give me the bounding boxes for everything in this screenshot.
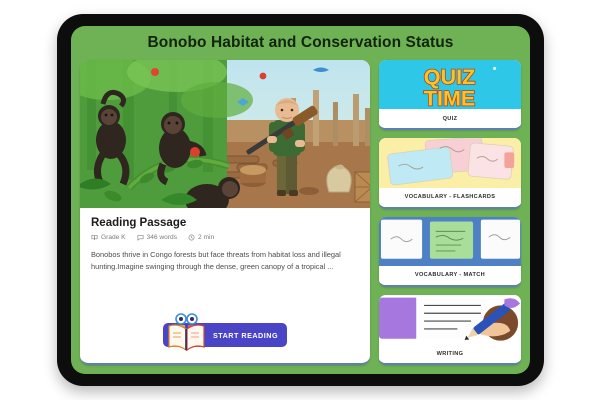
tablet-screen: Bonobo Habitat and Conservation Status [71, 26, 530, 374]
page-title: Bonobo Habitat and Conservation Status [147, 34, 453, 52]
meta-grade: Grade K [91, 234, 126, 241]
meta-time: 2 min [188, 234, 214, 241]
activity-label-match: VOCABULARY - MATCH [379, 266, 521, 285]
activity-card-quiz[interactable]: QUIZ TIME QUIZ [379, 60, 521, 130]
activity-card-flashcards[interactable]: VOCABULARY - FLASHCARDS [379, 138, 521, 208]
meta-words: 346 words [137, 234, 177, 241]
page-header: Bonobo Habitat and Conservation Status [71, 26, 530, 60]
meta-words-text: 346 words [147, 234, 177, 241]
passage-excerpt: Bonobos thrive in Congo forests but face… [91, 249, 359, 273]
open-book-mascot-icon [165, 313, 209, 351]
passage-meta-row: Grade K 346 words 2 min [91, 234, 359, 241]
book-icon [91, 234, 98, 241]
start-reading-button[interactable]: START READING [163, 323, 287, 347]
activity-label-writing: WRITING [379, 344, 521, 363]
activity-label-quiz: QUIZ [379, 109, 521, 128]
passage-illustration [80, 60, 370, 208]
flashcards-thumbnail [379, 138, 521, 187]
activity-sidebar: QUIZ TIME QUIZ [379, 60, 521, 365]
start-reading-label: START READING [213, 331, 278, 340]
meta-grade-text: Grade K [101, 234, 126, 241]
activity-label-flashcards: VOCABULARY - FLASHCARDS [379, 188, 521, 207]
quiz-thumbnail: QUIZ TIME [379, 60, 521, 109]
reading-passage-card[interactable]: Reading Passage Grade K [80, 60, 370, 365]
meta-time-text: 2 min [198, 234, 214, 241]
content-area: Reading Passage Grade K [71, 60, 530, 374]
clock-icon [188, 234, 195, 241]
writing-thumbnail [379, 295, 521, 344]
svg-text:TIME: TIME [424, 86, 475, 110]
activity-card-writing[interactable]: WRITING [379, 295, 521, 365]
passage-details: Reading Passage Grade K [80, 208, 370, 309]
passage-heading: Reading Passage [91, 217, 359, 229]
match-thumbnail [379, 217, 521, 266]
start-reading-wrap: START READING [80, 309, 370, 363]
speech-bubble-icon [137, 234, 144, 241]
activity-card-match[interactable]: VOCABULARY - MATCH [379, 217, 521, 287]
tablet-frame: Bonobo Habitat and Conservation Status [57, 14, 544, 386]
